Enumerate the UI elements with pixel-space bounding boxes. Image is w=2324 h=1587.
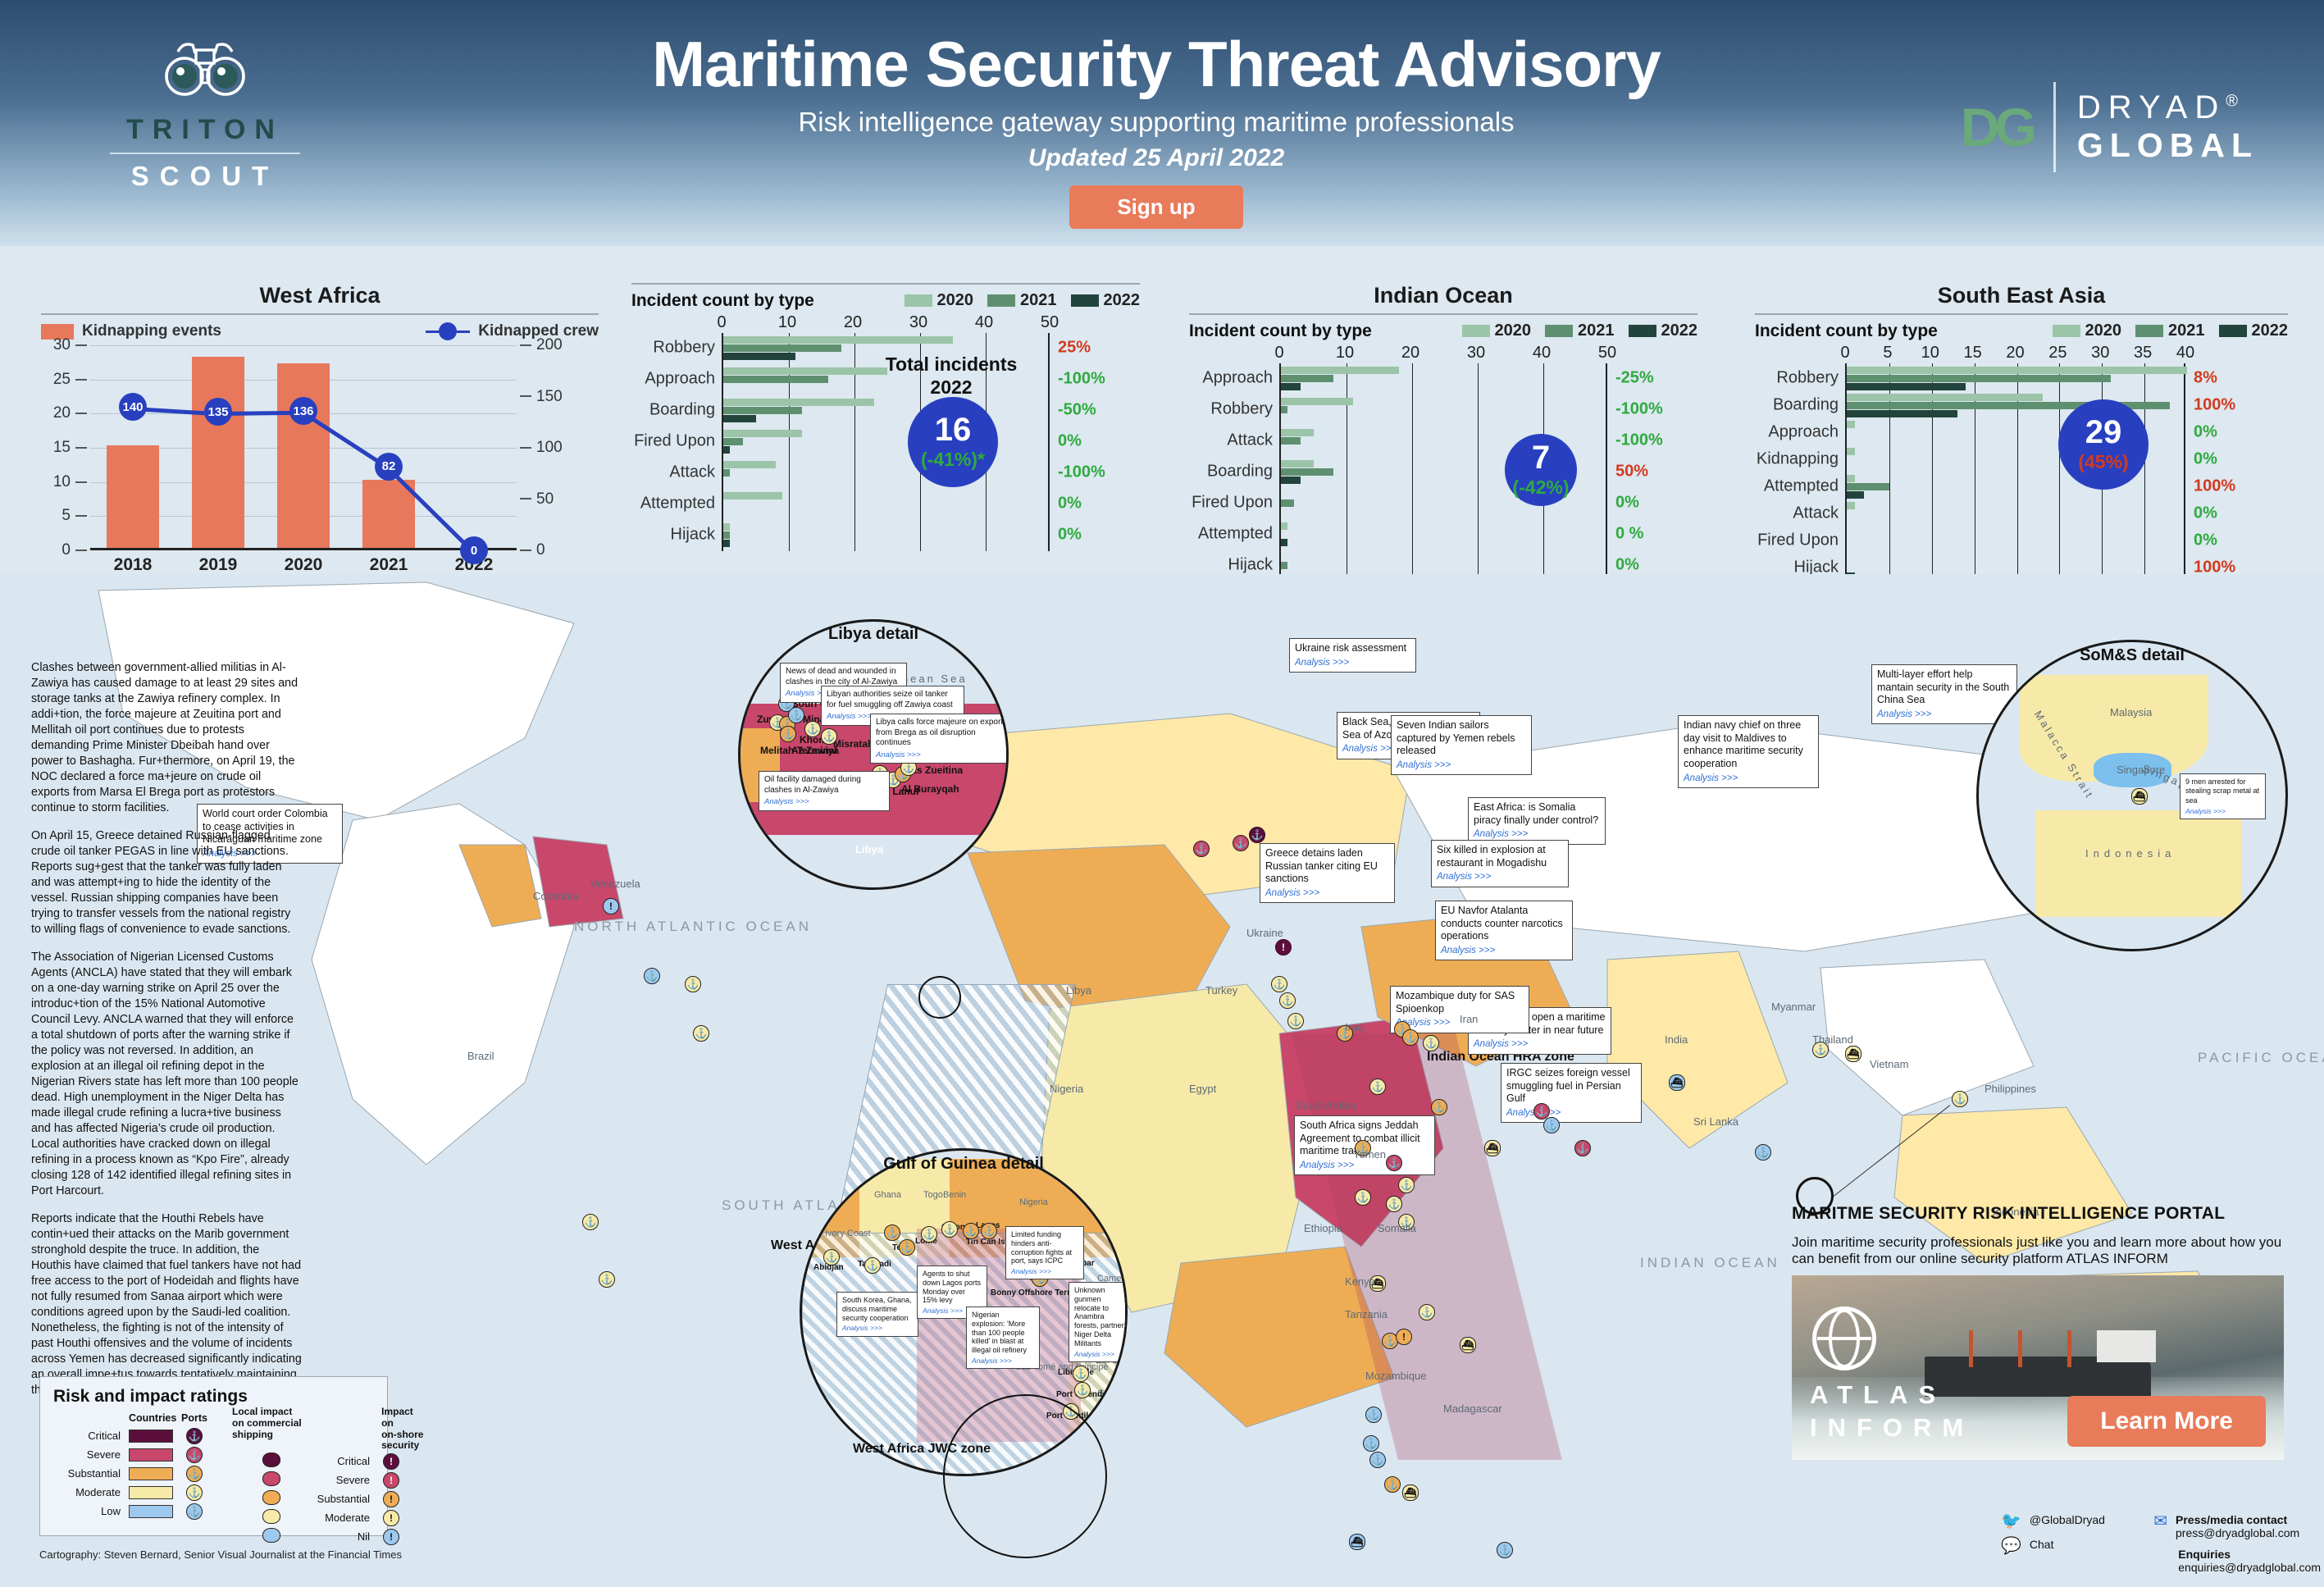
port-risk-icon: ⚓ bbox=[644, 968, 660, 984]
callout-text: Oil facility damaged during clashes in A… bbox=[764, 775, 861, 795]
legend-kidnapped-crew: Kidnapped crew bbox=[426, 322, 599, 340]
x-tick-label: 0 bbox=[717, 313, 726, 332]
pct-change-label: 100% bbox=[2194, 477, 2235, 496]
onshore-warning-icon: ! bbox=[375, 1491, 408, 1507]
y-axis-right: 050100150200 bbox=[520, 345, 566, 550]
atlas-inform-banner[interactable]: ATLAS INFORM Learn More bbox=[1792, 1275, 2284, 1460]
bar-2020 bbox=[723, 367, 887, 375]
panel-rule bbox=[1189, 313, 1697, 315]
x-axis-scale: 01020304050 bbox=[722, 313, 1050, 333]
analysis-link[interactable]: Analysis >>> bbox=[764, 797, 884, 807]
bar-2022 bbox=[723, 446, 730, 454]
total-caption-l1: Total incidents bbox=[886, 353, 1018, 375]
legend-impact-row-severe: Severe! bbox=[232, 1471, 426, 1489]
gridline bbox=[2144, 363, 2145, 580]
dg-monogram: DG bbox=[1961, 96, 2032, 158]
soms-detail-title: SoM&S detail bbox=[1976, 646, 2288, 665]
dryad-word: DRYAD bbox=[2077, 89, 2226, 125]
port-risk-icon: ⚓ bbox=[963, 1223, 979, 1239]
soms-detail-circle[interactable]: MalaysiaSingaporeIndonesiaMalacca Strait… bbox=[1976, 640, 2288, 951]
total-incidents-caption: Total incidents2022 bbox=[869, 353, 1033, 399]
bar-2022 bbox=[1847, 383, 1966, 390]
map-callout[interactable]: Greece detains laden Russian tanker citi… bbox=[1260, 843, 1395, 903]
local-impact-ship-icon bbox=[232, 1490, 311, 1507]
port-risk-icon: ⚓ bbox=[1249, 827, 1265, 843]
bar-2020 bbox=[723, 461, 776, 468]
ocean-label: PACIFIC OCEAN bbox=[2198, 1050, 2324, 1066]
map-callout[interactable]: IRGC seizes foreign vessel smuggling fue… bbox=[1501, 1063, 1642, 1123]
port-risk-icon: ⚓ bbox=[941, 1221, 958, 1238]
onshore-warning-icon: ! bbox=[375, 1529, 408, 1545]
press-contact[interactable]: ✉ Press/media contact press@dryadglobal.… bbox=[2153, 1513, 2321, 1539]
bar-2021 bbox=[723, 376, 828, 383]
promo-body: Join maritime security professionals jus… bbox=[1792, 1234, 2284, 1268]
legend-impact-row-substantial: Substantial! bbox=[232, 1489, 426, 1508]
port-risk-icon: ⚓ bbox=[1423, 1035, 1439, 1051]
x-tick-label: 0 bbox=[1840, 344, 1849, 363]
data-point: 135 bbox=[204, 398, 232, 426]
year-legend: 2020 2021 2022 bbox=[905, 291, 1141, 310]
impact-level-label: Severe bbox=[316, 1474, 370, 1486]
incident-count-label: Incident count by type bbox=[631, 291, 814, 311]
x-tick-label: 20 bbox=[1401, 344, 1419, 363]
pct-change-label: 100% bbox=[2194, 396, 2235, 415]
geo-label: Sri Lanka bbox=[1693, 1115, 1738, 1128]
panel-rule bbox=[631, 283, 1140, 285]
geo-label: Ukraine bbox=[1246, 927, 1283, 939]
bar-2021 bbox=[723, 344, 841, 352]
pct-change-label: 50% bbox=[1615, 463, 1648, 481]
port-risk-icon: ⚓ bbox=[780, 726, 796, 742]
envelope-icon: ✉ bbox=[2153, 1513, 2167, 1530]
analysis-link[interactable]: Analysis >>> bbox=[1300, 1160, 1429, 1171]
port-risk-icon: ⚓ bbox=[1398, 1177, 1415, 1193]
legend-impact-row-moderate: Moderate! bbox=[232, 1508, 426, 1527]
geo-label: Madagascar bbox=[1443, 1402, 1502, 1415]
total-incidents-number: 16 bbox=[935, 413, 972, 446]
map-callout[interactable]: Mozambique duty for SAS SpioenkopAnalysi… bbox=[1390, 986, 1529, 1033]
gulf-of-guinea-detail-title: Gulf of Guinea detail bbox=[800, 1155, 1128, 1174]
total-incidents-bubble: 29(45%) bbox=[2058, 399, 2149, 490]
callout-text: Six killed in explosion at restaurant in… bbox=[1437, 844, 1547, 869]
category-label: Attempted bbox=[640, 495, 715, 513]
analysis-link[interactable]: Analysis >>> bbox=[1877, 709, 2012, 720]
sign-up-button[interactable]: Sign up bbox=[1069, 185, 1242, 229]
bar-2021 bbox=[1281, 375, 1333, 382]
west-africa-incidents-panel: Incident count by type 2020 2021 2022 01… bbox=[631, 283, 1140, 551]
gog-callout[interactable]: Unknown gunmen relocate to Anambra fores… bbox=[1069, 1282, 1128, 1362]
west-africa-combo-chart: 0510152025300501001502001401351368202018… bbox=[41, 345, 566, 575]
panel-rule bbox=[41, 313, 599, 315]
legend-level-label: Low bbox=[53, 1505, 129, 1517]
pct-change-label: 8% bbox=[2194, 369, 2217, 388]
legend-row-substantial: Substantial⚓ bbox=[53, 1464, 216, 1483]
category-label: Approach bbox=[645, 370, 715, 389]
analysis-link[interactable]: Analysis >>> bbox=[1074, 1350, 1125, 1358]
gog-callout[interactable]: Limited funding hinders anti-corruption … bbox=[1005, 1226, 1084, 1279]
data-point: 140 bbox=[119, 393, 147, 421]
category-label: Boarding bbox=[649, 401, 715, 420]
bar-2022 bbox=[1847, 491, 1864, 499]
bar-2021 bbox=[723, 407, 802, 414]
y-tick: 10 bbox=[41, 473, 87, 491]
port-anchor-icon: ⚓ bbox=[173, 1428, 216, 1444]
twitter-handle[interactable]: @GlobalDryad bbox=[2030, 1513, 2105, 1526]
category-label: Robbery bbox=[1776, 369, 1839, 388]
port-risk-icon: ⚓ bbox=[1074, 1382, 1091, 1398]
port-risk-icon: ⚓ bbox=[1369, 1452, 1386, 1468]
col-countries: Countries bbox=[129, 1412, 173, 1424]
x-tick-label: 50 bbox=[1041, 313, 1059, 332]
total-incidents-number: 7 bbox=[1532, 441, 1550, 474]
bar-2022 bbox=[1281, 477, 1301, 484]
port-risk-icon: ⚓ bbox=[788, 707, 804, 723]
country-label: Nigeria bbox=[1019, 1197, 1048, 1207]
port-risk-icon: ⚓ bbox=[884, 1224, 900, 1241]
geo-label: Kenya bbox=[1345, 1275, 1375, 1288]
bar-2020 bbox=[1847, 367, 2187, 374]
x-tick-label: 40 bbox=[975, 313, 993, 332]
south-east-asia-panel: South East Asia Incident count by type 2… bbox=[1755, 283, 2288, 580]
col-local-impact: Local impact on commercial shipping bbox=[232, 1407, 307, 1452]
port-risk-icon: ⚓ bbox=[1369, 1079, 1386, 1095]
geo-label: Myanmar bbox=[1771, 1001, 1816, 1013]
analysis-link[interactable]: Analysis >>> bbox=[1265, 887, 1389, 899]
analysis-link[interactable]: Analysis >>> bbox=[1397, 759, 1526, 771]
port-risk-icon: ⚓ bbox=[804, 721, 821, 737]
x-tick-label: 10 bbox=[778, 313, 796, 332]
legend-level-label: Severe bbox=[53, 1448, 129, 1461]
cartography-credit: Cartography: Steven Bernard, Senior Visu… bbox=[39, 1548, 402, 1561]
west-africa-title: West Africa bbox=[41, 283, 599, 308]
callout-text: EU Navfor Atalanta conducts counter narc… bbox=[1441, 905, 1563, 942]
bar-2021 bbox=[1281, 406, 1287, 413]
malaysia-label: Malaysia bbox=[2110, 706, 2152, 718]
total-incidents-change: (-42%) bbox=[1512, 477, 1569, 499]
legend-row-moderate: Moderate⚓ bbox=[53, 1483, 216, 1502]
callout-text: News of dead and wounded in clashes in t… bbox=[786, 667, 897, 686]
chat-label[interactable]: Chat bbox=[2030, 1538, 2054, 1551]
bar-2022 bbox=[723, 415, 756, 422]
page-subtitle: Risk intelligence gateway supporting mar… bbox=[459, 107, 1853, 138]
analysis-link[interactable]: Analysis >>> bbox=[2185, 807, 2260, 816]
map-callout[interactable]: East Africa: is Somalia piracy finally u… bbox=[1468, 797, 1606, 845]
port-label: Es Zueitina bbox=[910, 764, 963, 776]
bar-2020 bbox=[1847, 475, 1855, 482]
pct-change-label: 0 % bbox=[1615, 525, 1643, 544]
bar-2021 bbox=[1281, 499, 1294, 507]
bar-2021 bbox=[1847, 483, 1889, 490]
geo-label: Iran bbox=[1460, 1013, 1478, 1025]
twitter-contact[interactable]: 🐦 @GlobalDryad bbox=[2001, 1513, 2130, 1530]
plot-area: 140135136820 bbox=[90, 345, 517, 550]
bar-2022 bbox=[1847, 410, 1957, 417]
bar-2022 bbox=[1281, 383, 1301, 390]
callout-text: Libyan authorities seize oil tanker for … bbox=[827, 690, 953, 709]
data-point: 82 bbox=[375, 453, 403, 481]
libya-callout[interactable]: Libya calls force majeure on exports fro… bbox=[870, 714, 1009, 764]
bar-2021 bbox=[723, 469, 730, 477]
callout-text: Mozambique duty for SAS Spioenkop bbox=[1396, 990, 1515, 1015]
geo-label: Vietnam bbox=[1870, 1058, 1908, 1070]
port-risk-icon: ⚓ bbox=[981, 1223, 997, 1239]
pct-change-label: 0% bbox=[1058, 495, 1082, 513]
enquiries-contact[interactable]: Enquiries enquiries@dryadglobal.com bbox=[2153, 1548, 2321, 1574]
callout-text: 9 men arrested for stealing scrap metal … bbox=[2185, 778, 2259, 805]
global-word: GLOBAL bbox=[2077, 126, 2258, 165]
geo-label: Iraq bbox=[1345, 1021, 1363, 1033]
impact-level-label: Critical bbox=[316, 1455, 370, 1467]
west-africa-panel: West Africa Kidnapping events Kidnapped … bbox=[41, 283, 599, 575]
news-paragraph-3: The Association of Nigerian Licensed Cus… bbox=[31, 950, 302, 1199]
indian-ocean-panel: Indian Ocean Incident count by type 2020… bbox=[1189, 283, 1697, 581]
bar-2020 bbox=[1847, 421, 1855, 428]
binoculars-icon bbox=[160, 37, 250, 103]
x-tick-label: 40 bbox=[1533, 344, 1551, 363]
libya-locator-circle bbox=[918, 976, 961, 1019]
callout-text: Indian navy chief on three day visit to … bbox=[1684, 719, 1803, 769]
libya-label: Libya bbox=[855, 843, 883, 855]
callout-text: Agents to shut down Lagos ports Monday o… bbox=[923, 1270, 981, 1304]
incident-count-label: Incident count by type bbox=[1189, 322, 1372, 341]
logo-divider bbox=[110, 153, 300, 154]
category-label: Fired Upon bbox=[1192, 494, 1273, 513]
onshore-security-icon: ! bbox=[1275, 939, 1292, 955]
total-incidents-number: 29 bbox=[2085, 416, 2122, 449]
total-incidents-bubble: 16(-41%)* bbox=[908, 397, 998, 487]
libya-callout[interactable]: Oil facility damaged during clashes in A… bbox=[759, 771, 890, 811]
chat-icon: 💬 bbox=[2001, 1538, 2021, 1554]
x-tick-label: 20 bbox=[844, 313, 862, 332]
port-risk-icon: ⚓ bbox=[1543, 1117, 1560, 1133]
ship-graphic bbox=[1925, 1357, 2151, 1398]
y2-tick: 200 bbox=[520, 336, 566, 354]
category-label: Attack bbox=[1227, 431, 1273, 450]
map-callout[interactable]: Ukraine risk assessmentAnalysis >>> bbox=[1289, 638, 1416, 673]
south-east-asia-title: South East Asia bbox=[1755, 283, 2288, 308]
enquiries-email[interactable]: enquiries@dryadglobal.com bbox=[2178, 1561, 2321, 1574]
x-axis-scale: 01020304050 bbox=[1279, 344, 1607, 363]
x-tick-label: 20 bbox=[2006, 344, 2024, 363]
press-label: Press/media contact bbox=[2176, 1513, 2287, 1526]
year-legend: 2020 2021 2022 bbox=[1462, 322, 1698, 340]
port-risk-icon: ⚓ bbox=[1952, 1091, 1968, 1107]
local-impact-ship-icon: ⛴ bbox=[1402, 1484, 1419, 1501]
country-colour-chip bbox=[129, 1430, 173, 1443]
port-risk-icon: ⚓ bbox=[1355, 1189, 1371, 1206]
geo-label: Thailand bbox=[1812, 1033, 1853, 1046]
gridline bbox=[1412, 363, 1413, 581]
enquiries-label: Enquiries bbox=[2178, 1548, 2231, 1561]
port-risk-icon: ⚓ bbox=[899, 1239, 915, 1256]
map-callout[interactable]: EU Navfor Atalanta conducts counter narc… bbox=[1435, 901, 1573, 960]
geo-label: Yemen bbox=[1353, 1148, 1386, 1161]
port-risk-icon: ⚓ bbox=[864, 1257, 881, 1274]
indian-ocean-incident-chart: 01020304050Approach-25%Robbery-100%Attac… bbox=[1189, 344, 1697, 581]
category-label: Hijack bbox=[671, 526, 715, 545]
col-onshore-security: Impact on on-shore security bbox=[381, 1407, 426, 1452]
category-label: Fired Upon bbox=[634, 432, 715, 451]
x-axis-scale: 0510152025303540 bbox=[1845, 344, 2185, 363]
analysis-link[interactable]: Analysis >>> bbox=[1441, 945, 1567, 956]
port-risk-icon: ⚓ bbox=[693, 1025, 709, 1042]
analysis-link[interactable]: Analysis >>> bbox=[1011, 1267, 1078, 1275]
learn-more-button[interactable]: Learn More bbox=[2067, 1396, 2266, 1447]
gridline bbox=[90, 345, 517, 346]
pct-change-label: 0% bbox=[1615, 556, 1639, 575]
port-label: Misratah bbox=[833, 738, 873, 750]
analysis-link[interactable]: Analysis >>> bbox=[1474, 1038, 1606, 1050]
port-risk-icon: ⚓ bbox=[1386, 1155, 1402, 1171]
geo-label: Libya bbox=[1066, 984, 1091, 996]
legend-2022: 2022 bbox=[1104, 291, 1141, 310]
pct-change-label: 0% bbox=[2194, 531, 2217, 550]
country-label: Benin bbox=[943, 1190, 966, 1200]
y2-tick: 0 bbox=[520, 541, 566, 559]
promo-block: MARITME SECURITY RISK INTELLIGENCE PORTA… bbox=[1792, 1204, 2284, 1460]
scout-wordmark: SCOUT bbox=[98, 161, 312, 192]
pct-change-label: 0% bbox=[1615, 494, 1639, 513]
x-tick-label: 35 bbox=[2134, 344, 2152, 363]
bar-2020 bbox=[1281, 398, 1353, 405]
port-anchor-icon: ⚓ bbox=[173, 1447, 216, 1463]
bar-2020 bbox=[1281, 522, 1287, 530]
port-risk-icon: ⚓ bbox=[1497, 1542, 1513, 1558]
category-label: Hijack bbox=[1228, 556, 1273, 575]
callout-text: Unknown gunmen relocate to Anambra fores… bbox=[1074, 1286, 1124, 1348]
analysis-link[interactable]: Analysis >>> bbox=[972, 1357, 1034, 1365]
map-callout[interactable]: Indian navy chief on three day visit to … bbox=[1678, 715, 1819, 788]
category-label: Kidnapping bbox=[1757, 450, 1839, 469]
registered-trademark-icon: ® bbox=[2226, 93, 2245, 111]
geo-label: Philippines bbox=[1985, 1083, 2036, 1095]
legend-impact-row-nil: Nil! bbox=[232, 1527, 426, 1546]
x-tick-label: 2021 bbox=[346, 555, 431, 575]
country-colour-chip bbox=[129, 1467, 173, 1480]
impact-level-label: Substantial bbox=[316, 1493, 370, 1505]
country-colour-chip bbox=[129, 1486, 173, 1499]
map-callout[interactable]: Six killed in explosion at restaurant in… bbox=[1431, 840, 1569, 887]
port-risk-icon: ⚓ bbox=[1419, 1304, 1435, 1320]
analysis-link[interactable]: Analysis >>> bbox=[1437, 871, 1563, 882]
analysis-link[interactable]: Analysis >>> bbox=[876, 750, 1008, 760]
incident-count-label: Incident count by type bbox=[1755, 322, 1938, 341]
onshore-warning-icon: ! bbox=[375, 1472, 408, 1489]
data-point: 136 bbox=[289, 397, 317, 425]
legend-2020: 2020 bbox=[937, 291, 974, 310]
local-impact-ship-icon: ⛴ bbox=[1484, 1140, 1501, 1156]
local-impact-ship-icon bbox=[232, 1509, 311, 1526]
legend-2021: 2021 bbox=[1020, 291, 1057, 310]
callout-text: Ukraine risk assessment bbox=[1295, 642, 1406, 654]
bar-2020 bbox=[723, 336, 953, 344]
press-email[interactable]: press@dryadglobal.com bbox=[2176, 1526, 2299, 1539]
legend-2022: 2022 bbox=[2252, 322, 2289, 340]
promo-heading: MARITME SECURITY RISK INTELLIGENCE PORTA… bbox=[1792, 1204, 2284, 1224]
port-risk-icon: ⚓ bbox=[1271, 976, 1287, 992]
west-africa-incident-chart: 01020304050Robbery25%Approach-100%Boardi… bbox=[631, 313, 1140, 551]
port-risk-icon: ⚓ bbox=[685, 976, 701, 992]
analysis-link[interactable]: Analysis >>> bbox=[1684, 773, 1813, 784]
dryad-global-logo: DG DRYAD® GLOBAL bbox=[1961, 82, 2258, 172]
total-incidents-bubble: 7(-42%) bbox=[1505, 434, 1577, 506]
news-summary-column: Clashes between government-allied militi… bbox=[31, 660, 302, 1411]
bar-2021 bbox=[1281, 468, 1333, 476]
geo-label: Venezuela bbox=[590, 878, 640, 890]
category-label: Attempted bbox=[1198, 525, 1273, 544]
news-paragraph-4: Reports indicate that the Houthi Rebels … bbox=[31, 1211, 302, 1398]
chat-contact[interactable]: 💬 Chat bbox=[2001, 1538, 2130, 1554]
bar-2022 bbox=[1281, 539, 1287, 546]
pct-change-label: 0% bbox=[1058, 432, 1082, 451]
gog-callout[interactable]: Nigerian explosion: 'More than 100 peopl… bbox=[966, 1307, 1040, 1369]
category-label: Robbery bbox=[653, 339, 715, 358]
logo-vertical-divider bbox=[2053, 82, 2056, 172]
contact-block: 🐦 @GlobalDryad 💬 Chat ✉ Press/media cont… bbox=[2001, 1513, 2321, 1582]
gridline bbox=[789, 333, 790, 551]
y2-tick: 100 bbox=[520, 439, 566, 457]
port-risk-icon: ⚓ bbox=[1073, 1366, 1089, 1382]
gridline bbox=[2059, 363, 2060, 580]
bar-2020 bbox=[1281, 367, 1399, 374]
bar-2021 bbox=[723, 531, 730, 539]
analysis-link[interactable]: Analysis >>> bbox=[1506, 1107, 1636, 1119]
port-risk-icon: ⚓ bbox=[1365, 1407, 1382, 1423]
y2-tick: 50 bbox=[520, 490, 566, 508]
y-tick: 30 bbox=[41, 336, 87, 354]
category-label: Approach bbox=[1768, 423, 1839, 442]
soms-callout[interactable]: 9 men arrested for stealing scrap metal … bbox=[2180, 773, 2266, 819]
gog-callout[interactable]: South Korea, Ghana, discuss maritime sec… bbox=[836, 1292, 918, 1337]
legend-impact-row-critical: Critical! bbox=[232, 1452, 426, 1471]
libya-detail-circle[interactable]: TunisiaLibyaMediterranean SeaBouri Oil F… bbox=[738, 619, 1009, 890]
x-tick-label: 10 bbox=[1921, 344, 1939, 363]
category-label: Fired Upon bbox=[1757, 531, 1839, 550]
legend-label-kidnapping: Kidnapping events bbox=[82, 322, 221, 340]
category-label: Attack bbox=[669, 463, 715, 482]
indonesia-label: Indonesia bbox=[2085, 847, 2176, 860]
atlas-word: ATLAS bbox=[1810, 1380, 1946, 1410]
ship-superstructure bbox=[2097, 1330, 2156, 1361]
analysis-link[interactable]: Analysis >>> bbox=[1474, 828, 1600, 840]
local-impact-ship-icon: ⛴ bbox=[1349, 1534, 1365, 1550]
map-callout[interactable]: Multi-layer effort help mantain security… bbox=[1871, 664, 2017, 724]
port-anchor-icon: ⚓ bbox=[173, 1466, 216, 1482]
x-tick-label: 2019 bbox=[175, 555, 261, 575]
triton-scout-logo: TRITON SCOUT bbox=[98, 37, 312, 192]
legend-row-severe: Severe⚓ bbox=[53, 1445, 216, 1464]
title-block: Maritime Security Threat Advisory Risk i… bbox=[459, 31, 1853, 229]
port-risk-icon: ⚓ bbox=[1279, 992, 1296, 1009]
local-impact-ship-icon bbox=[232, 1452, 311, 1470]
pct-change-label: -100% bbox=[1058, 370, 1105, 389]
total-caption-l2: 2022 bbox=[930, 376, 972, 398]
pct-change-label: 0% bbox=[2194, 423, 2217, 442]
x-tick-label: 30 bbox=[1467, 344, 1485, 363]
gridline bbox=[1347, 363, 1347, 581]
port-label: Az Zawiya bbox=[791, 745, 839, 756]
map-callout[interactable]: Seven Indian sailors captured by Yemen r… bbox=[1391, 715, 1532, 775]
gridline bbox=[1478, 363, 1479, 581]
bar-2021 bbox=[1281, 437, 1301, 445]
callout-text: Greece detains laden Russian tanker citi… bbox=[1265, 847, 1378, 884]
country-label: Ghana bbox=[874, 1190, 901, 1200]
legend-level-label: Critical bbox=[53, 1430, 129, 1442]
country-colour-chip bbox=[129, 1505, 173, 1518]
analysis-link[interactable]: Analysis >>> bbox=[1295, 657, 1410, 668]
news-paragraph-2: On April 15, Greece detained Russian-fla… bbox=[31, 828, 302, 937]
analysis-link[interactable]: Analysis >>> bbox=[842, 1324, 913, 1332]
